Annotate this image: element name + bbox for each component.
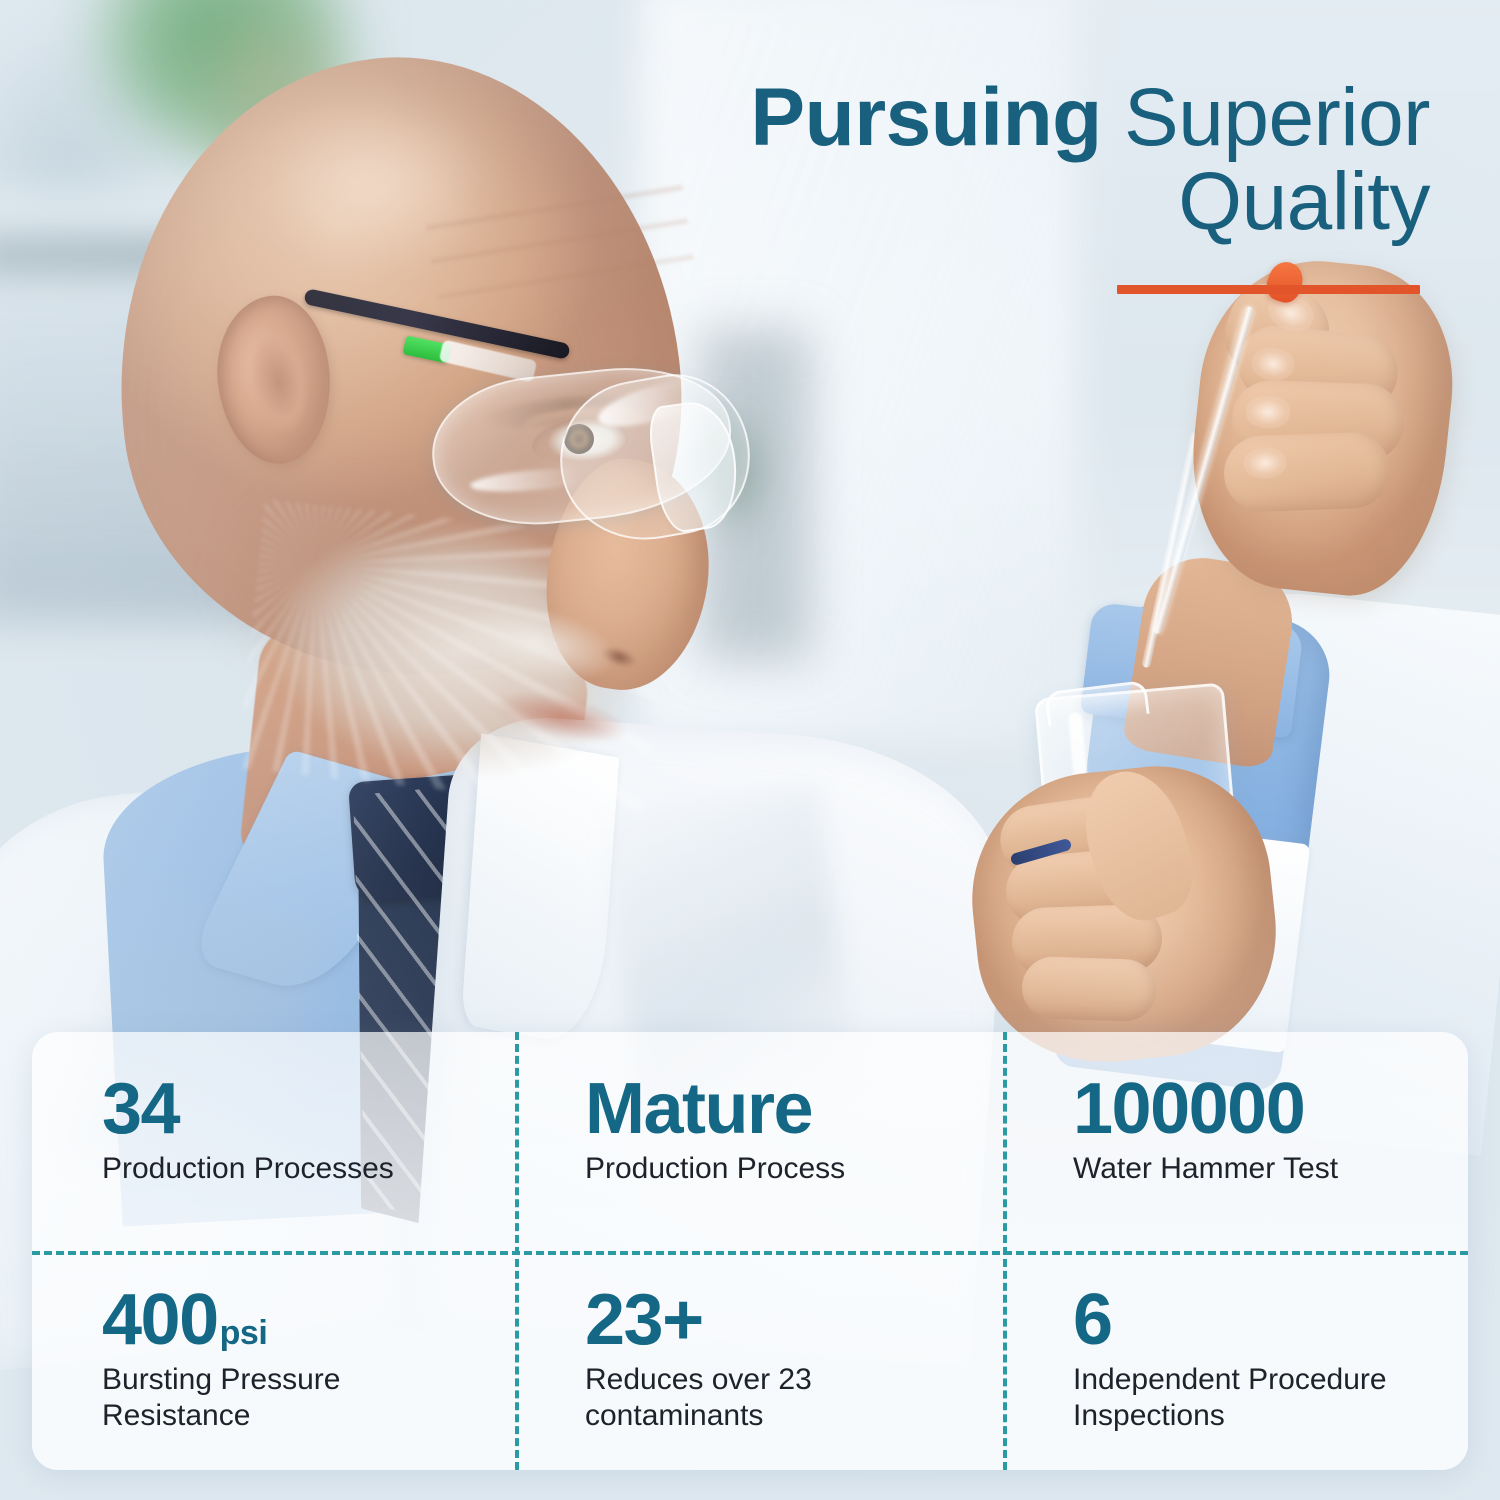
stat-label: Water Hammer Test bbox=[1073, 1151, 1453, 1188]
stat-unit: psi bbox=[220, 1314, 268, 1352]
stat-value: 34 bbox=[102, 1074, 515, 1145]
stat-cell-bursting-pressure: 400psi Bursting Pressure Resistance bbox=[32, 1251, 515, 1470]
stat-number: 23+ bbox=[585, 1280, 703, 1360]
headline-accent-bar bbox=[1117, 285, 1420, 294]
infographic-canvas: Pursuing Superior Quality 34 Production … bbox=[0, 0, 1500, 1500]
stat-cell-water-hammer-test: 100000 Water Hammer Test bbox=[1003, 1032, 1468, 1251]
stat-value: 100000 bbox=[1073, 1074, 1468, 1145]
stat-number: 400 bbox=[102, 1280, 218, 1360]
stat-number: 6 bbox=[1073, 1280, 1112, 1360]
headline-line-2: Quality bbox=[520, 160, 1430, 244]
stat-cell-contaminants: 23+ Reduces over 23 contaminants bbox=[515, 1251, 1003, 1470]
stat-label: Independent Procedure Inspections bbox=[1073, 1362, 1453, 1435]
stat-cell-inspections: 6 Independent Procedure Inspections bbox=[1003, 1251, 1468, 1470]
stat-number: Mature bbox=[585, 1069, 812, 1149]
stat-value: 400psi bbox=[102, 1285, 515, 1356]
headline-line-1: Pursuing Superior bbox=[520, 76, 1430, 160]
stat-label: Production Processes bbox=[102, 1151, 482, 1188]
finger bbox=[1021, 956, 1157, 1023]
stat-value: 6 bbox=[1073, 1285, 1468, 1356]
stat-number: 34 bbox=[102, 1069, 179, 1149]
fingernail bbox=[1245, 395, 1290, 429]
stat-label: Reduces over 23 contaminants bbox=[585, 1362, 965, 1435]
stat-number: 100000 bbox=[1073, 1069, 1304, 1149]
stat-value: 23+ bbox=[585, 1285, 1003, 1356]
stat-cell-production-processes: 34 Production Processes bbox=[32, 1032, 515, 1251]
stat-cell-mature-process: Mature Production Process bbox=[515, 1032, 1003, 1251]
headline-light-word: Superior bbox=[1102, 72, 1430, 163]
stat-label: Bursting Pressure Resistance bbox=[102, 1362, 482, 1435]
stats-panel: 34 Production Processes Mature Productio… bbox=[32, 1032, 1468, 1470]
page-title: Pursuing Superior Quality bbox=[520, 76, 1430, 245]
stat-value: Mature bbox=[585, 1074, 1003, 1145]
horizontal-divider bbox=[32, 1251, 1468, 1255]
stat-label: Production Process bbox=[585, 1151, 965, 1188]
headline-bold-word: Pursuing bbox=[750, 72, 1101, 163]
